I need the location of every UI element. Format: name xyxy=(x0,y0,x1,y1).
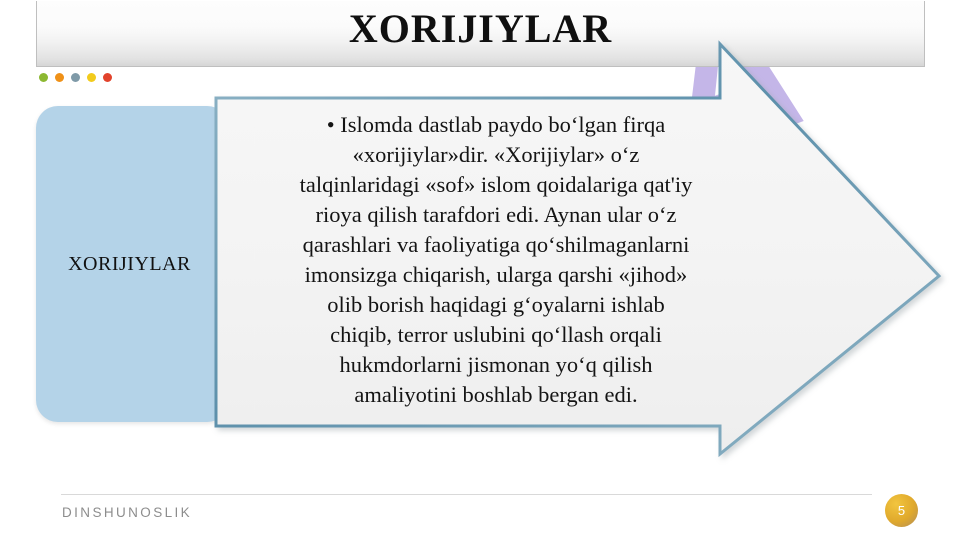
slide-canvas: S A XORIJIYLAR XORIJIYLAR xyxy=(0,0,960,540)
decorative-dot-row xyxy=(39,73,112,82)
dot-orange-icon xyxy=(55,73,64,82)
callout-line: imonsizga chiqarish, ularga qarshi «jiho… xyxy=(236,260,756,290)
page-number: 5 xyxy=(898,503,905,518)
dot-yellow-icon xyxy=(87,73,96,82)
callout-line: • Islomda dastlab paydo bo‘lgan firqa xyxy=(236,110,756,140)
topic-label-box: XORIJIYLAR xyxy=(36,106,229,422)
callout-line: hukmdorlarni jismonan yo‘q qilish xyxy=(236,350,756,380)
dot-red-icon xyxy=(103,73,112,82)
callout-body-text: • Islomda dastlab paydo bo‘lgan firqa «x… xyxy=(236,110,756,410)
dot-gray-icon xyxy=(71,73,80,82)
slide-title-bar: XORIJIYLAR xyxy=(36,1,925,67)
callout-line: talqinlaridagi «sof» islom qoidalariga q… xyxy=(236,170,756,200)
dot-green-icon xyxy=(39,73,48,82)
callout-line: qarashlari va faoliyatiga qo‘shilmaganla… xyxy=(236,230,756,260)
page-title: XORIJIYLAR xyxy=(37,5,924,52)
footer-label: DINSHUNOSLIK xyxy=(62,505,192,520)
topic-label-text: XORIJIYLAR xyxy=(68,253,197,276)
callout-line: amaliyotini boshlab bergan edi. xyxy=(236,380,756,410)
footer-divider xyxy=(61,494,872,495)
page-number-badge: 5 xyxy=(885,494,918,527)
callout-line: rioya qilish tarafdori edi. Aynan ular o… xyxy=(236,200,756,230)
callout-line: «xorijiylar»dir. «Xorijiylar» o‘z xyxy=(236,140,756,170)
callout-line: olib borish haqidagi g‘oyalarni ishlab xyxy=(236,290,756,320)
callout-line: chiqib, terror uslubini qo‘llash orqali xyxy=(236,320,756,350)
